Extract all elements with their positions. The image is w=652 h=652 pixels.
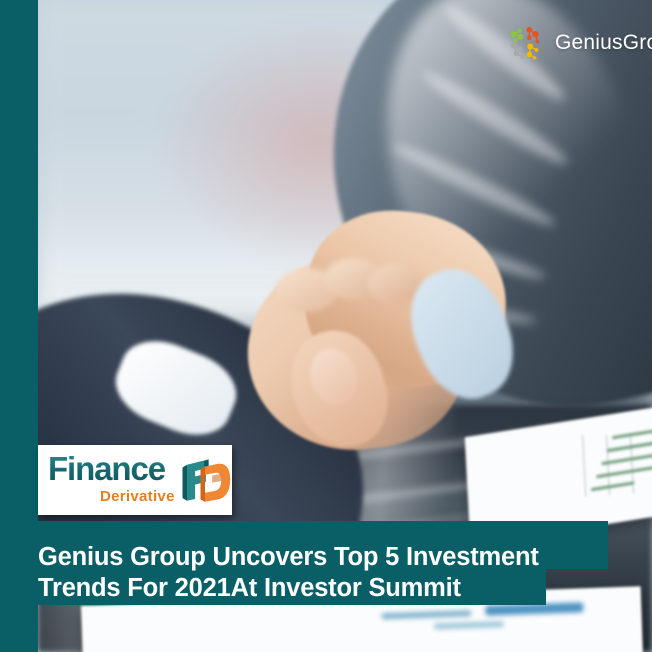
document-text-line	[381, 610, 471, 619]
chart-bar	[596, 466, 652, 478]
derivative-wordmark: Derivative	[100, 489, 175, 504]
headline-banner: Genius Group Uncovers Top 5 Investment T…	[0, 521, 608, 605]
genius-group-network-mark	[504, 22, 546, 64]
headline-line-1: Genius Group Uncovers Top 5 Investment	[38, 542, 598, 573]
genius-group-wordmark: GeniusGroup	[555, 31, 652, 55]
headline-line-2: Trends For 2021At Investor Summit	[38, 573, 598, 604]
chart-bar	[591, 481, 635, 491]
chart-axis	[582, 435, 586, 497]
fd-monogram-icon	[178, 454, 232, 508]
chart-bar	[601, 451, 652, 466]
document-text-line	[434, 621, 504, 629]
finance-wordmark: Finance	[48, 452, 165, 485]
page-title: Genius Group Uncovers Top 5 Investment T…	[38, 542, 598, 604]
finance-derivative-logo[interactable]: Finance Derivative	[38, 445, 232, 515]
genius-group-logo: GeniusGroup	[504, 18, 652, 68]
article-card: GeniusGroup Finance Derivative Genius	[0, 0, 652, 652]
chart-bar	[612, 422, 652, 439]
